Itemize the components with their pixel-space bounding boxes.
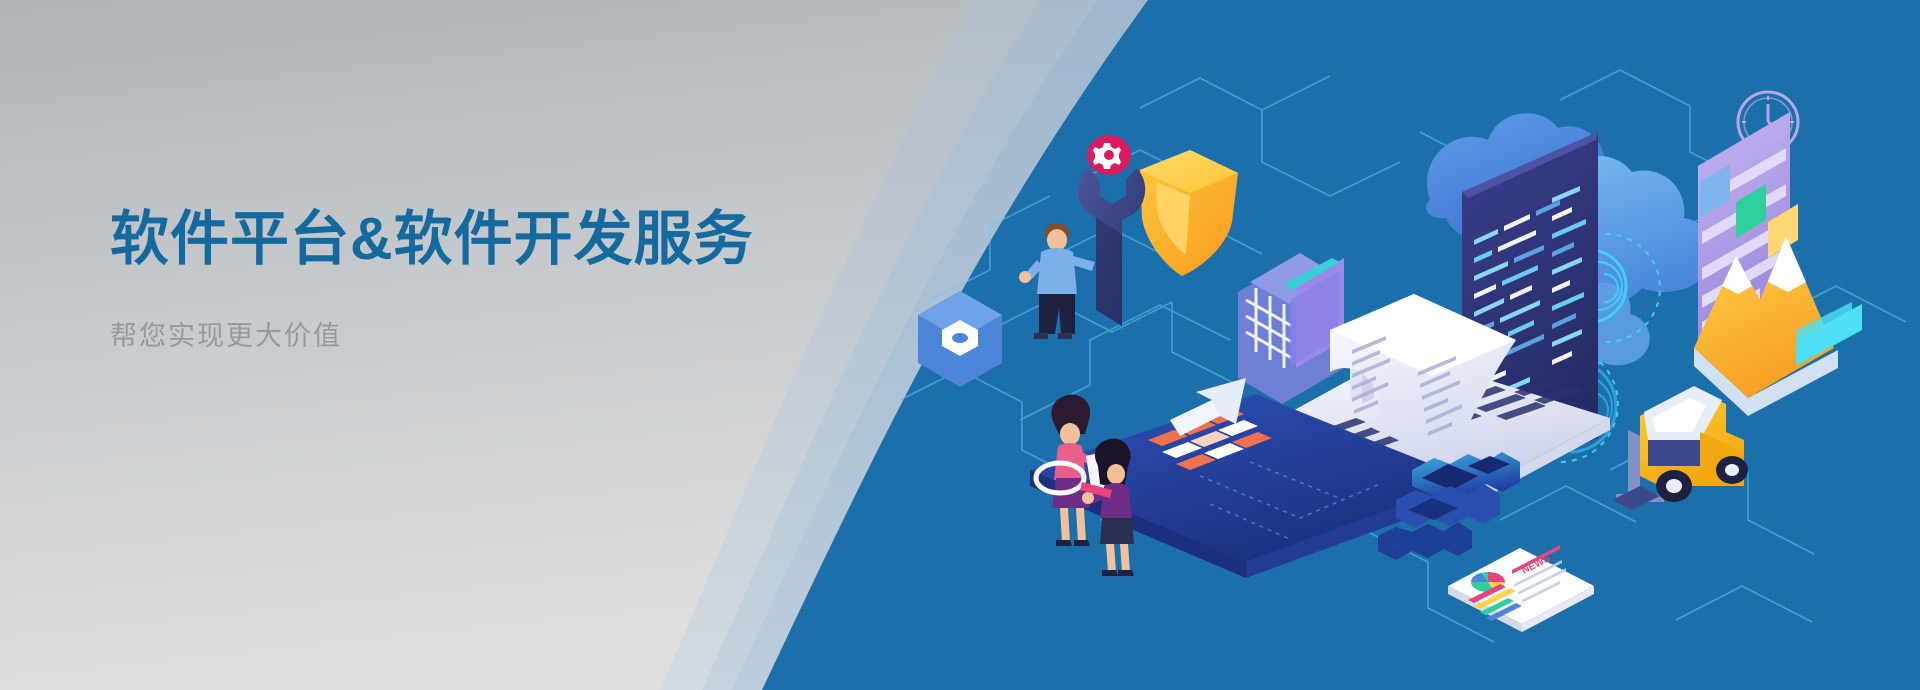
- gear-badge-icon: [1087, 135, 1131, 175]
- tablet-grid-icon: [1238, 253, 1344, 404]
- page-title: 软件平台&软件开发服务: [110, 205, 870, 275]
- shield-icon: [1140, 150, 1238, 276]
- camera-icon: [918, 291, 1002, 387]
- forklift-icon: [1612, 386, 1748, 510]
- wrench-icon: [1078, 168, 1145, 326]
- page-subtitle: 帮您实现更大价值: [110, 319, 870, 354]
- hero-banner: NEWS: [0, 0, 1920, 690]
- banner-copy: 软件平台&软件开发服务 帮您实现更大价值: [110, 205, 870, 354]
- news-card-icon: NEWS: [1448, 545, 1594, 632]
